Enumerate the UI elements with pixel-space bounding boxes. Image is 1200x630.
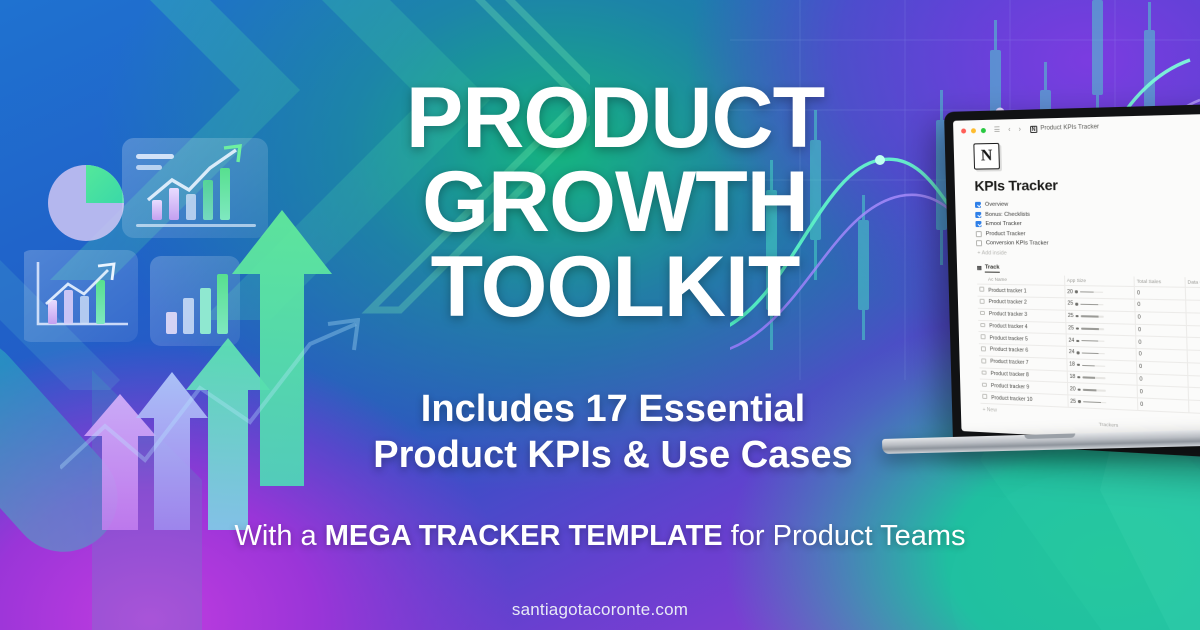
bar-fill (1082, 364, 1095, 366)
bar-dot (1077, 364, 1080, 367)
headline-line-1: PRODUCT (330, 76, 900, 160)
bar-fill (1083, 401, 1101, 403)
breadcrumb[interactable]: N Product KPIs Tracker (1030, 124, 1099, 133)
laptop-mockup: ☰ ‹ › N Product KPIs Tracker N KPIs Trac… (916, 112, 1200, 492)
page-title: KPIs Tracker (974, 175, 1200, 194)
bar-fill (1081, 352, 1098, 354)
bar-fill (1080, 316, 1098, 318)
bar-fill (1082, 389, 1096, 391)
bar-track (1081, 340, 1104, 342)
row-checkbox-icon[interactable] (980, 323, 985, 328)
list-item[interactable]: Product Tracker (976, 231, 1200, 238)
add-inside-button[interactable]: + Add inside (977, 250, 1200, 258)
subheadline: Includes 17 Essential Product KPIs & Use… (318, 386, 908, 479)
bar-dot (1077, 352, 1080, 355)
notion-page-body: N KPIs Tracker Overview Bonus: Checklist… (953, 131, 1200, 435)
checkbox-icon[interactable] (975, 211, 981, 217)
cell-data-cases (1185, 287, 1200, 301)
row-checkbox-icon[interactable] (982, 382, 987, 387)
laptop-lid: ☰ ‹ › N Product KPIs Tracker N KPIs Trac… (944, 103, 1200, 460)
cell-app-size-value: 18 (1069, 374, 1075, 380)
row-checkbox-icon[interactable] (981, 358, 986, 363)
row-checkbox-icon[interactable] (979, 287, 984, 292)
bar-fill (1080, 291, 1094, 293)
row-checkbox-icon[interactable] (982, 370, 987, 375)
minimize-window-icon[interactable] (971, 128, 976, 133)
row-checkbox-icon[interactable] (982, 394, 987, 399)
subheadline-line-2: Product KPIs & Use Cases (318, 432, 908, 478)
table-tab-label: Track (985, 264, 1000, 273)
maximize-window-icon[interactable] (981, 127, 986, 132)
row-checkbox-icon[interactable] (981, 346, 986, 351)
select-all-header[interactable] (977, 274, 986, 284)
bar-dot (1077, 376, 1080, 379)
cell-app-size-value: 25 (1067, 301, 1073, 307)
headline-line-3: TOOLKIT (330, 245, 900, 329)
bar-dot (1076, 315, 1079, 318)
notion-logo-icon: N (973, 143, 1000, 170)
bar-track (1080, 291, 1103, 293)
row-checkbox-icon[interactable] (981, 335, 986, 340)
list-item-label: Overview (985, 202, 1008, 208)
checkbox-icon[interactable] (975, 221, 981, 227)
bar-fill (1081, 340, 1098, 342)
cell-app-size-value: 25 (1068, 313, 1074, 319)
table-body: Product tracker 1 20 0 Product tracker 2 (977, 284, 1200, 415)
footer-url: santiagotacoronte.com (0, 600, 1200, 620)
bar-track (1080, 303, 1103, 305)
pie-chart-icon (48, 165, 124, 241)
sidebar-toggle-icon[interactable]: ☰ (994, 126, 1001, 134)
close-window-icon[interactable] (961, 128, 966, 133)
bar-dot (1075, 303, 1078, 306)
list-item[interactable]: Overview (975, 200, 1200, 208)
laptop-screen: ☰ ‹ › N Product KPIs Tracker N KPIs Trac… (953, 113, 1200, 447)
bar-track (1083, 401, 1106, 403)
zigzag-trendline (60, 318, 360, 498)
bar-track (1082, 364, 1105, 366)
bar-fill (1081, 328, 1099, 330)
bar-dot (1076, 339, 1079, 342)
list-item-label: Conversion KPIs Tracker (986, 240, 1049, 246)
bar-track (1082, 377, 1105, 379)
bar-track (1080, 316, 1103, 318)
list-item-label: Product Tracker (986, 231, 1026, 237)
cell-app-size-value: 24 (1069, 349, 1075, 355)
cell-total-sales: 0 (1134, 287, 1185, 300)
cell-total-sales: 0 (1135, 299, 1186, 312)
bar-dot (1078, 400, 1081, 403)
list-item[interactable]: Emooi Tracker (975, 221, 1200, 227)
bar-track (1081, 328, 1104, 330)
cell-app-size-value: 20 (1067, 289, 1073, 295)
list-item[interactable]: Conversion KPIs Tracker (976, 240, 1200, 248)
breadcrumb-label: Product KPIs Tracker (1040, 124, 1099, 132)
bar-track (1082, 389, 1105, 391)
bar-fill (1080, 303, 1098, 305)
list-item[interactable]: Bonus: Checklists (975, 211, 1200, 218)
bar-fill (1082, 377, 1095, 379)
cell-app-size-value: 18 (1069, 362, 1075, 368)
tagline-suffix: for Product Teams (723, 520, 966, 552)
tagline-emphasis: MEGA TRACKER TEMPLATE (325, 520, 723, 552)
subheadline-line-1: Includes 17 Essential (318, 386, 908, 432)
kpi-table: Ac Name App Size Total Sales Data Cases … (977, 274, 1200, 415)
row-checkbox-icon[interactable] (980, 311, 985, 316)
cell-app-size-value: 25 (1070, 398, 1076, 404)
checkbox-icon[interactable] (975, 202, 981, 208)
headline-line-2: GROWTH (330, 160, 900, 244)
table-icon: ▦ (977, 265, 982, 271)
checkbox-icon[interactable] (976, 240, 982, 246)
tagline-prefix: With a (234, 520, 324, 552)
cell-app-size-value: 24 (1068, 337, 1074, 343)
forward-arrow-icon[interactable]: › (1019, 126, 1022, 133)
bar-track (1081, 352, 1104, 354)
bar-dot (1076, 327, 1079, 330)
list-item-label: Bonus: Checklists (985, 211, 1030, 217)
bar-dot (1078, 388, 1081, 391)
list-item-label: Emooi Tracker (985, 221, 1021, 227)
checklist: Overview Bonus: Checklists Emooi Tracker (975, 200, 1200, 247)
notion-page-icon: N (1030, 125, 1037, 132)
row-checkbox-icon[interactable] (980, 299, 985, 304)
back-arrow-icon[interactable]: ‹ (1008, 126, 1011, 133)
laptop-notch (1024, 433, 1075, 439)
headline: PRODUCT GROWTH TOOLKIT (330, 76, 900, 329)
checkbox-icon[interactable] (976, 231, 982, 237)
promo-banner: PRODUCT GROWTH TOOLKIT Includes 17 Essen… (0, 0, 1200, 630)
bar-dot (1075, 291, 1078, 294)
tagline: With a MEGA TRACKER TEMPLATE for Product… (0, 520, 1200, 553)
cell-app-size-value: 20 (1070, 386, 1076, 392)
cell-app-size-value: 25 (1068, 325, 1074, 331)
